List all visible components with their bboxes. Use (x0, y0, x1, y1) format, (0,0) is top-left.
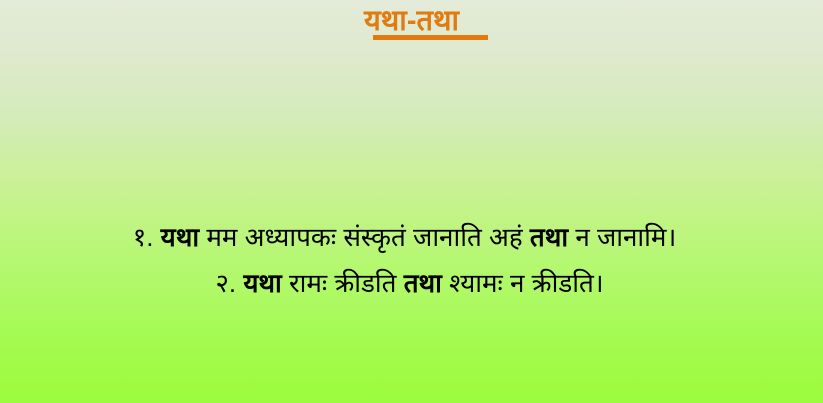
list-item: २. यथा रामः क्रीडति तथा श्यामः न क्रीडति… (0, 260, 823, 306)
list-item: १. यथा मम अध्यापकः संस्कृतं जानाति अहं त… (0, 214, 823, 260)
title-block: यथा-तथा (0, 4, 823, 38)
slide-canvas: यथा-तथा १. यथा मम अध्यापकः संस्कृतं जाना… (0, 0, 823, 403)
sentence-1-number: १. (133, 222, 154, 252)
page-title: यथा-तथा (364, 4, 459, 38)
sentence-1-text-a: मम अध्यापकः संस्कृतं जानाति अहं (206, 222, 522, 252)
sentence-1-keyword-yatha: यथा (161, 222, 199, 252)
sentence-2-number: २. (215, 268, 236, 298)
sentence-list: १. यथा मम अध्यापकः संस्कृतं जानाति अहं त… (0, 214, 823, 306)
sentence-2-keyword-tatha: तथा (404, 268, 442, 298)
sentence-2-text-b: श्यामः न क्रीडति। (449, 268, 604, 298)
sentence-2-text-a: रामः क्रीडति (289, 268, 397, 298)
sentence-1-keyword-tatha: तथा (530, 222, 568, 252)
sentence-1-text-b: न जानामि। (575, 222, 676, 252)
title-underline-rule (373, 35, 488, 40)
sentence-2-keyword-yatha: यथा (243, 268, 281, 298)
